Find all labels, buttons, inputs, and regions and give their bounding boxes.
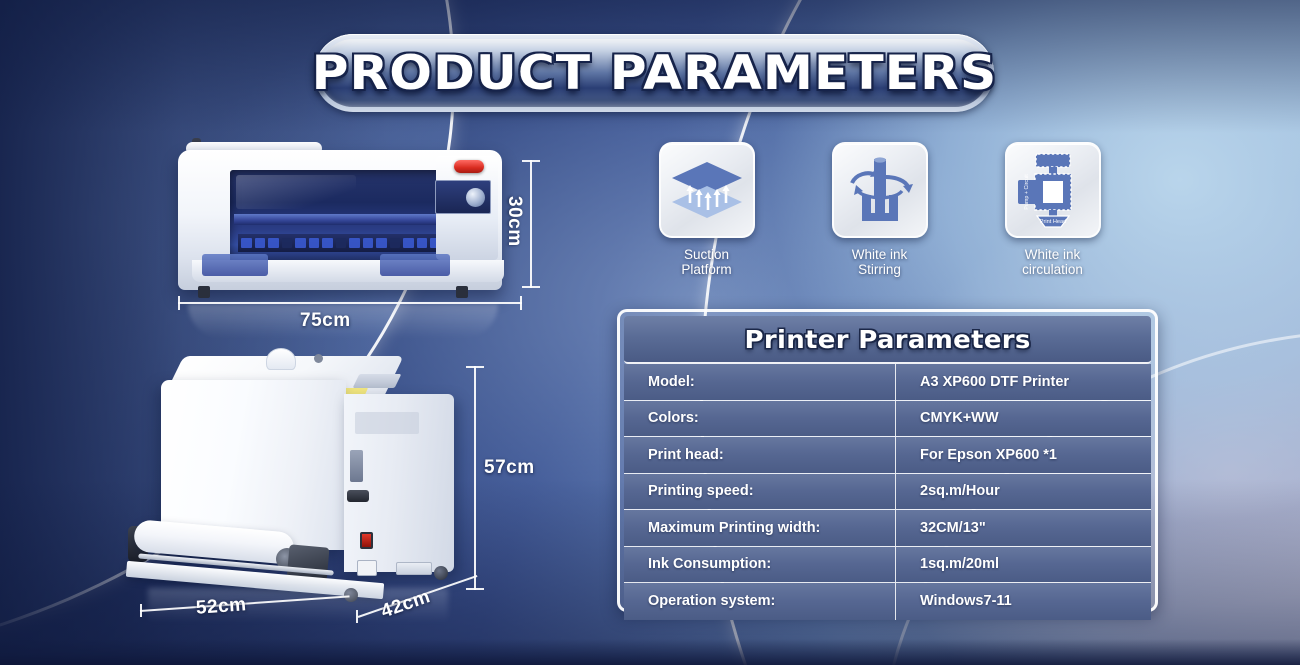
table-cell-value: A3 XP600 DTF Printer — [896, 364, 1151, 400]
shaker-access-plate — [396, 562, 432, 575]
printer-parameters-table: Printer Parameters Model:A3 XP600 DTF Pr… — [617, 309, 1158, 612]
suction-platform-icon — [668, 159, 746, 221]
table-row: Model:A3 XP600 DTF Printer — [624, 364, 1151, 401]
table-cell-key: Model: — [624, 364, 896, 400]
table-cell-key: Colors: — [624, 401, 896, 437]
table-row: Ink Consumption:1sq.m/20ml — [624, 547, 1151, 584]
shaker-power-socket — [357, 560, 377, 576]
shaker-toggle-switch[interactable] — [347, 490, 369, 502]
table-cell-key: Maximum Printing width: — [624, 510, 896, 546]
printer-window-glare — [236, 175, 356, 209]
table-cell-value: 32CM/13" — [896, 510, 1151, 546]
shaker-powder-funnel — [266, 348, 296, 370]
table-row: Print head:For Epson XP600 *1 — [624, 437, 1151, 474]
title-banner-inner-frame: PRODUCT PARAMETERS — [319, 39, 989, 107]
printer-lcd-screen — [435, 180, 491, 214]
page-title: PRODUCT PARAMETERS — [311, 46, 997, 101]
feature-white-ink-circulation[interactable]: Pump + Circuit Print Head White ink circ… — [986, 142, 1119, 290]
shaker-power-switch[interactable] — [360, 532, 373, 549]
feature-icons-row: Suction Platform White ink — [640, 142, 1120, 290]
printer-foot-right — [456, 286, 468, 298]
printer-tray-left — [202, 254, 268, 276]
background-bottom-band — [0, 639, 1300, 665]
printer-platen-row — [238, 234, 444, 252]
table-cell-value: 1sq.m/20ml — [896, 547, 1151, 583]
suction-platform-tile — [659, 142, 755, 238]
white-ink-stirring-icon — [842, 155, 918, 225]
feature-label-white-ink-circulation: White ink circulation — [1022, 247, 1083, 277]
table-row: Operation system:Windows7-11 — [624, 583, 1151, 620]
title-banner: PRODUCT PARAMETERS — [314, 34, 994, 112]
printer-emergency-stop-button[interactable] — [454, 160, 484, 173]
table-cell-key: Operation system: — [624, 583, 896, 620]
table-row: Colors:CMYK+WW — [624, 401, 1151, 438]
table-cell-value: CMYK+WW — [896, 401, 1151, 437]
printer-body — [178, 150, 502, 290]
shaker-rear-ports — [353, 374, 402, 388]
printer-navigation-dial[interactable] — [466, 188, 485, 207]
feature-suction-platform[interactable]: Suction Platform — [640, 142, 773, 290]
printer-tray-right — [380, 254, 450, 276]
printer-carriage-rail — [234, 214, 448, 225]
printer-control-panel — [436, 156, 498, 260]
shaker-top-knob — [314, 354, 323, 363]
print-head-label: Print Head — [1039, 219, 1065, 225]
white-ink-circulation-icon: Pump + Circuit Print Head — [1013, 150, 1093, 230]
table-row: Printing speed:2sq.m/Hour — [624, 474, 1151, 511]
product-parameters-banner: PRODUCT PARAMETERS — [0, 0, 1300, 665]
printer-cover-window — [230, 170, 452, 266]
table-cell-value: Windows7-11 — [896, 583, 1151, 620]
table-cell-key: Print head: — [624, 437, 896, 473]
table-title: Printer Parameters — [744, 325, 1030, 354]
white-ink-stirring-tile — [832, 142, 928, 238]
shaker-vent-panel — [355, 412, 419, 434]
white-ink-circulation-tile: Pump + Circuit Print Head — [1005, 142, 1101, 238]
shaker-caster-rear — [434, 566, 448, 580]
table-body: Model:A3 XP600 DTF PrinterColors:CMYK+WW… — [624, 364, 1151, 620]
table-cell-key: Printing speed: — [624, 474, 896, 510]
feature-label-white-ink-stirring: White ink Stirring — [852, 247, 908, 277]
shaker-dryer-image — [128, 350, 478, 615]
printer-front-view-image — [170, 138, 510, 303]
table-row: Maximum Printing width:32CM/13" — [624, 510, 1151, 547]
printer-foot-left — [198, 286, 210, 298]
table-cell-value: 2sq.m/Hour — [896, 474, 1151, 510]
pump-circuit-label: Pump + Circuit — [1024, 174, 1030, 210]
shaker-handle-slot — [350, 450, 363, 482]
table-cell-key: Ink Consumption: — [624, 547, 896, 583]
feature-white-ink-stirring[interactable]: White ink Stirring — [813, 142, 946, 290]
table-cell-value: For Epson XP600 *1 — [896, 437, 1151, 473]
table-header: Printer Parameters — [624, 316, 1151, 364]
feature-label-suction-platform: Suction Platform — [681, 247, 731, 277]
